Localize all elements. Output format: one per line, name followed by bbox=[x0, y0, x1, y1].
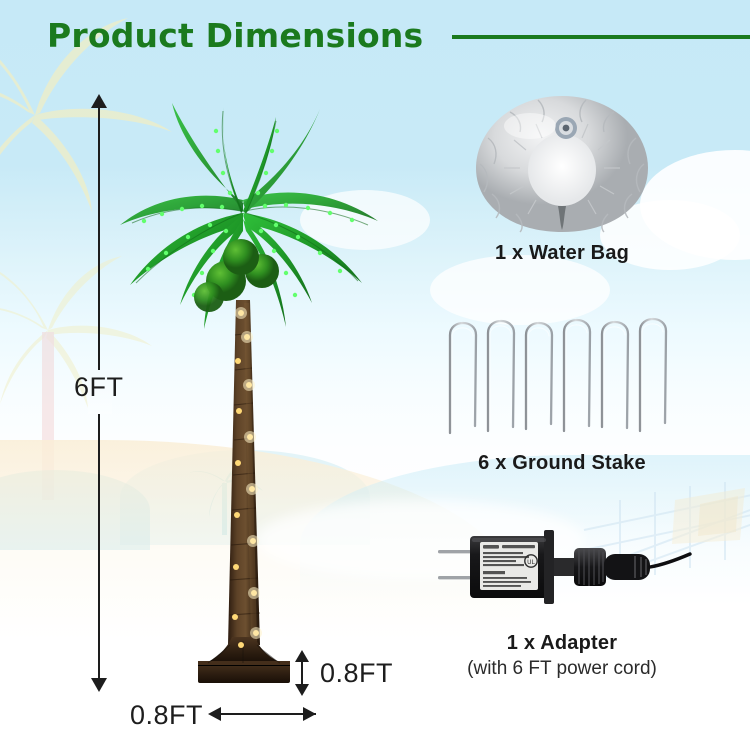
ground-stake-icon bbox=[442, 305, 682, 450]
height-dimension-label: 6FT bbox=[74, 372, 124, 403]
power-adapter-icon: UL bbox=[432, 520, 692, 630]
water-bag-icon bbox=[462, 90, 662, 240]
water-bag-image bbox=[462, 90, 662, 240]
accessory-ground-stake: 6 x Ground Stake bbox=[412, 305, 712, 476]
height-arrow-bottom bbox=[91, 678, 107, 692]
infographic-canvas: Product Dimensions bbox=[0, 0, 750, 750]
adapter-sublabel: (with 6 FT power cord) bbox=[412, 656, 712, 682]
ground-stake-label: 6 x Ground Stake bbox=[412, 450, 712, 476]
svg-text:UL: UL bbox=[527, 559, 535, 566]
adapter-image: UL bbox=[432, 520, 692, 630]
ground-stake-image bbox=[442, 305, 682, 450]
palm-tree-product-image bbox=[110, 85, 400, 685]
adapter-label: 1 x Adapter bbox=[412, 630, 712, 656]
base-width-arrow-right bbox=[303, 707, 316, 721]
base-height-dimension-label: 0.8FT bbox=[320, 658, 393, 689]
base-width-dimension-label: 0.8FT bbox=[130, 700, 203, 731]
accessory-water-bag: 1 x Water Bag bbox=[412, 90, 712, 266]
title-divider-rule bbox=[452, 35, 750, 39]
base-width-dimension-line bbox=[218, 713, 316, 715]
page-title: Product Dimensions bbox=[47, 16, 423, 55]
base-height-arrow-bottom bbox=[295, 684, 309, 696]
accessory-adapter: UL bbox=[412, 520, 712, 682]
water-bag-label: 1 x Water Bag bbox=[412, 240, 712, 266]
